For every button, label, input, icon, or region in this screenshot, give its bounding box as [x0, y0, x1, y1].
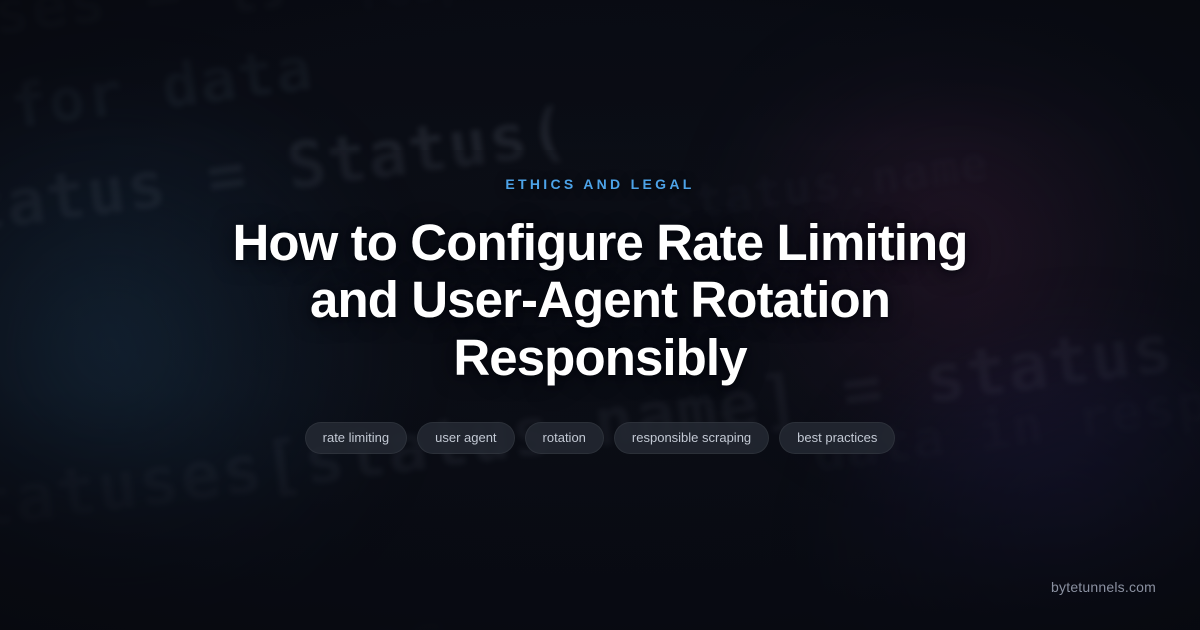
tag-chip[interactable]: user agent: [417, 422, 514, 454]
page-title: How to Configure Rate Limiting and User-…: [200, 214, 1000, 385]
tag-list: rate limiting user agent rotation respon…: [305, 422, 896, 454]
tag-chip[interactable]: responsible scraping: [614, 422, 769, 454]
category-eyebrow: ETHICS AND LEGAL: [505, 176, 694, 192]
site-watermark: bytetunnels.com: [1051, 579, 1156, 595]
tag-chip[interactable]: rotation: [525, 422, 604, 454]
card-content: ETHICS AND LEGAL How to Configure Rate L…: [0, 0, 1200, 630]
headline-line-2: and User-Agent Rotation Responsibly: [310, 271, 890, 385]
tag-chip[interactable]: best practices: [779, 422, 895, 454]
headline-line-1: How to Configure Rate Limiting: [232, 214, 967, 271]
tag-chip[interactable]: rate limiting: [305, 422, 407, 454]
og-image-card: statuses = {} async for data status = St…: [0, 0, 1200, 630]
